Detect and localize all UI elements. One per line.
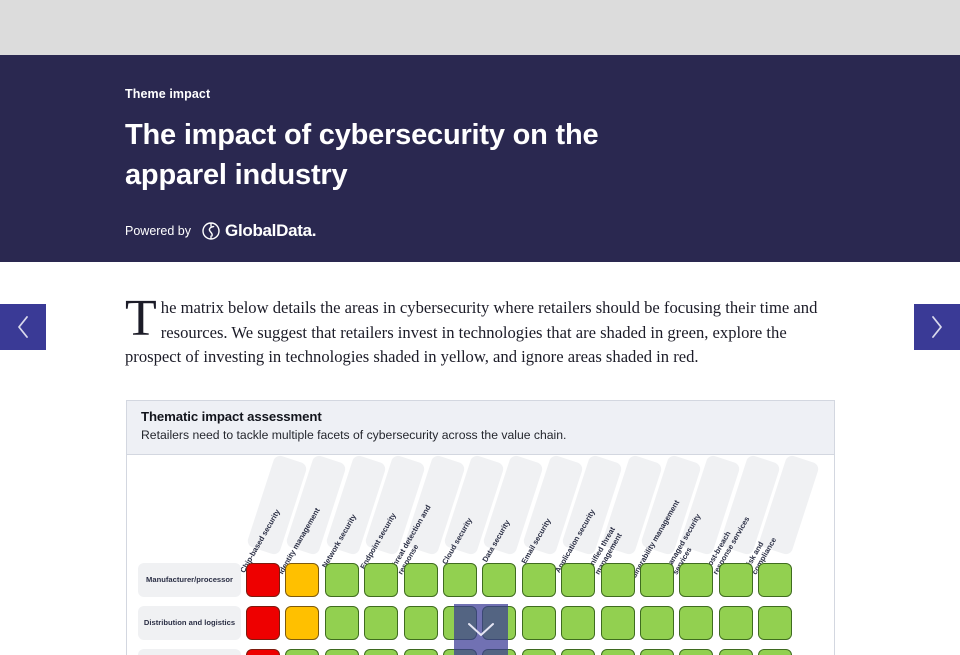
matrix-cell bbox=[679, 563, 713, 597]
matrix-cell bbox=[601, 606, 635, 640]
matrix-column-header-label: Email security bbox=[520, 518, 553, 566]
browser-top-strip bbox=[0, 0, 960, 55]
matrix-cell bbox=[325, 563, 359, 597]
matrix-cell bbox=[246, 606, 280, 640]
matrix-cell bbox=[679, 606, 713, 640]
matrix-cell bbox=[246, 649, 280, 655]
matrix-header: Thematic impact assessment Retailers nee… bbox=[127, 401, 834, 455]
matrix-cell bbox=[246, 563, 280, 597]
article-lede: The matrix below details the areas in cy… bbox=[125, 296, 835, 370]
matrix-cell bbox=[325, 649, 359, 655]
powered-by-row: Powered by GlobalData. bbox=[125, 221, 960, 241]
matrix-cell bbox=[640, 649, 674, 655]
matrix-cell bbox=[719, 606, 753, 640]
matrix-cell bbox=[285, 606, 319, 640]
next-slide-button[interactable] bbox=[914, 304, 960, 350]
matrix-cell bbox=[364, 606, 398, 640]
matrix-cell bbox=[601, 649, 635, 655]
matrix-cell bbox=[758, 649, 792, 655]
matrix-cell bbox=[719, 649, 753, 655]
globaldata-logo: GlobalData. bbox=[201, 221, 316, 241]
matrix-cell bbox=[404, 649, 438, 655]
matrix-cell bbox=[522, 606, 556, 640]
matrix-cell bbox=[364, 649, 398, 655]
matrix-cell bbox=[482, 563, 516, 597]
chevron-down-icon bbox=[466, 621, 496, 639]
matrix-title: Thematic impact assessment bbox=[141, 409, 820, 424]
powered-by-label: Powered by bbox=[125, 224, 191, 238]
matrix-cell bbox=[285, 649, 319, 655]
matrix-cell bbox=[679, 649, 713, 655]
matrix-cell bbox=[443, 563, 477, 597]
prev-slide-button[interactable] bbox=[0, 304, 46, 350]
matrix-cell bbox=[719, 563, 753, 597]
matrix-cell bbox=[285, 563, 319, 597]
header-eyebrow: Theme impact bbox=[125, 87, 960, 101]
matrix-row-label: Distribution and logistics bbox=[138, 606, 241, 640]
matrix-cell bbox=[522, 649, 556, 655]
chevron-right-icon bbox=[928, 314, 946, 340]
matrix-cell bbox=[404, 606, 438, 640]
matrix-cell bbox=[404, 563, 438, 597]
matrix-row-label: Retailers bbox=[138, 649, 241, 655]
matrix-cell bbox=[561, 563, 595, 597]
matrix-cell bbox=[325, 606, 359, 640]
matrix-cell bbox=[561, 606, 595, 640]
article-body: The matrix below details the areas in cy… bbox=[125, 296, 835, 370]
page-header: Theme impact The impact of cybersecurity… bbox=[0, 55, 960, 262]
matrix-cell bbox=[364, 563, 398, 597]
matrix-cell bbox=[561, 649, 595, 655]
globaldata-circle-icon bbox=[201, 221, 221, 241]
matrix-row-label: Manufacturer/processor bbox=[138, 563, 241, 597]
matrix-cell bbox=[758, 606, 792, 640]
matrix-cell bbox=[640, 563, 674, 597]
page-title: The impact of cybersecurity on the appar… bbox=[125, 115, 705, 195]
matrix-cell bbox=[640, 606, 674, 640]
matrix-column-headers: Chip-based securityIdentity managementNe… bbox=[127, 455, 835, 560]
matrix-cell bbox=[522, 563, 556, 597]
globaldata-wordmark: GlobalData. bbox=[225, 221, 316, 241]
matrix-cell bbox=[601, 563, 635, 597]
scroll-down-button[interactable] bbox=[454, 604, 508, 655]
matrix-column-header-label: Data security bbox=[482, 519, 513, 564]
matrix-subtitle: Retailers need to tackle multiple facets… bbox=[141, 428, 820, 442]
matrix-cell bbox=[758, 563, 792, 597]
chevron-left-icon bbox=[14, 314, 32, 340]
